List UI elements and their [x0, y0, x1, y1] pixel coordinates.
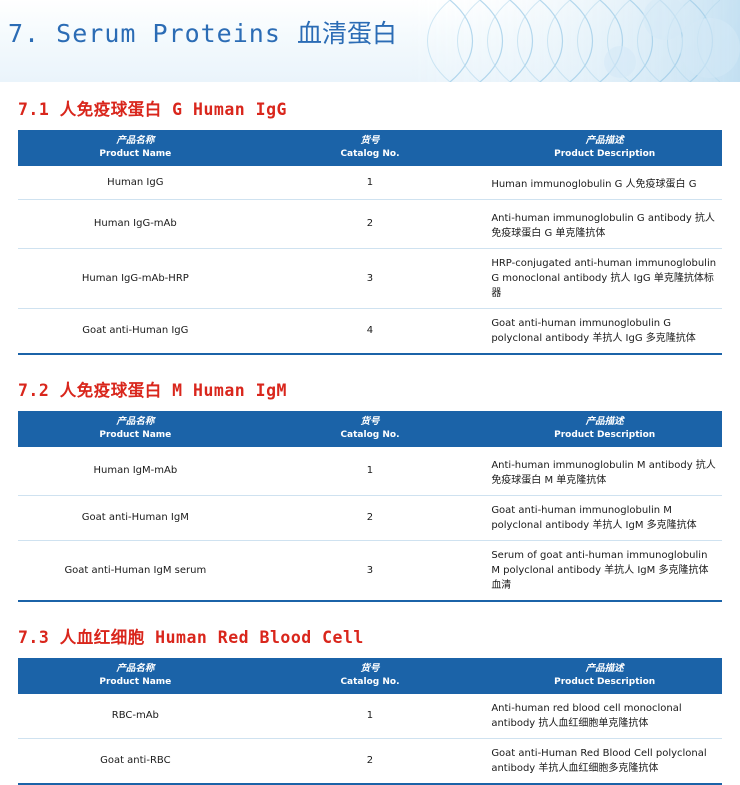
cell-product-description: Goat anti-human immunoglobulin G polyclo…: [487, 308, 722, 354]
cell-catalog-no: 1: [253, 166, 488, 200]
col-product-name-en: Product Name: [20, 148, 251, 160]
cell-product-name: Human IgG: [18, 166, 253, 200]
col-catalog-no-cn: 货号: [255, 416, 486, 429]
section-7-3-title: 7.3 人血红细胞 Human Red Blood Cell: [18, 624, 722, 648]
col-product-description: 产品描述 Product Description: [487, 411, 722, 447]
section-7-2-heading: 人免疫球蛋白 M Human IgM: [60, 381, 287, 400]
cell-product-name: Human IgM-mAb: [18, 447, 253, 496]
table-body-7-2: Human IgM-mAb 1 Anti-human immunoglobuli…: [18, 447, 722, 601]
cell-catalog-no: 4: [253, 308, 488, 354]
cell-product-description: Human immunoglobulin G 人免疫球蛋白 G: [487, 166, 722, 200]
cell-product-description: Anti-human red blood cell monoclonal ant…: [487, 694, 722, 739]
table-row: RBC-mAb 1 Anti-human red blood cell mono…: [18, 694, 722, 739]
table-row: Goat anti-Human IgM serum 3 Serum of goa…: [18, 540, 722, 601]
table-row: Human IgG 1 Human immunoglobulin G 人免疫球蛋…: [18, 166, 722, 200]
page-title-en: Serum Proteins: [56, 19, 281, 48]
page-title-cn: 血清蛋白: [297, 19, 397, 48]
cell-product-description: Anti-human immunoglobulin M antibody 抗人免…: [487, 447, 722, 496]
table-header-row: 产品名称 Product Name 货号 Catalog No. 产品描述 Pr…: [18, 411, 722, 447]
cell-catalog-no: 1: [253, 694, 488, 739]
col-product-description-cn: 产品描述: [489, 416, 720, 429]
page-title: 7. Serum Proteins 血清蛋白: [8, 14, 397, 50]
cell-product-name: Goat anti-RBC: [18, 738, 253, 784]
table-header-7-3: 产品名称 Product Name 货号 Catalog No. 产品描述 Pr…: [18, 658, 722, 694]
col-product-name: 产品名称 Product Name: [18, 658, 253, 694]
table-row: Goat anti-RBC 2 Goat anti-Human Red Bloo…: [18, 738, 722, 784]
section-7-1-title: 7.1 人免疫球蛋白 G Human IgG: [18, 96, 722, 120]
cell-catalog-no: 3: [253, 540, 488, 601]
col-catalog-no: 货号 Catalog No.: [253, 411, 488, 447]
col-catalog-no: 货号 Catalog No.: [253, 130, 488, 166]
col-product-description: 产品描述 Product Description: [487, 658, 722, 694]
cell-product-name: Human IgG-mAb-HRP: [18, 248, 253, 308]
table-header-row: 产品名称 Product Name 货号 Catalog No. 产品描述 Pr…: [18, 658, 722, 694]
product-table-7-3: 产品名称 Product Name 货号 Catalog No. 产品描述 Pr…: [18, 658, 722, 785]
col-catalog-no-cn: 货号: [255, 135, 486, 148]
cell-product-name: Human IgG-mAb: [18, 199, 253, 248]
section-7-3-number: 7.3: [18, 628, 49, 647]
col-product-name: 产品名称 Product Name: [18, 411, 253, 447]
col-catalog-no-cn: 货号: [255, 663, 486, 676]
dna-helix-decoration: [410, 0, 740, 82]
col-product-name-en: Product Name: [20, 429, 251, 441]
col-product-description-en: Product Description: [489, 148, 720, 160]
table-header-row: 产品名称 Product Name 货号 Catalog No. 产品描述 Pr…: [18, 130, 722, 166]
col-product-name-en: Product Name: [20, 676, 251, 688]
cell-catalog-no: 2: [253, 199, 488, 248]
table-row: Goat anti-Human IgM 2 Goat anti-human im…: [18, 495, 722, 540]
col-product-name-cn: 产品名称: [20, 135, 251, 148]
section-7-1-number: 7.1: [18, 100, 49, 119]
cell-product-description: HRP-conjugated anti-human immunoglobulin…: [487, 248, 722, 308]
cell-catalog-no: 1: [253, 447, 488, 496]
col-product-name-cn: 产品名称: [20, 416, 251, 429]
table-row: Human IgM-mAb 1 Anti-human immunoglobuli…: [18, 447, 722, 496]
col-product-description-cn: 产品描述: [489, 663, 720, 676]
col-product-description-en: Product Description: [489, 676, 720, 688]
cell-catalog-no: 2: [253, 495, 488, 540]
cell-product-description: Serum of goat anti-human immunoglobulin …: [487, 540, 722, 601]
section-7-2-title: 7.2 人免疫球蛋白 M Human IgM: [18, 377, 722, 401]
product-table-7-2: 产品名称 Product Name 货号 Catalog No. 产品描述 Pr…: [18, 411, 722, 602]
cell-product-name: Goat anti-Human IgM serum: [18, 540, 253, 601]
cell-product-name: Goat anti-Human IgG: [18, 308, 253, 354]
table-row: Human IgG-mAb-HRP 3 HRP-conjugated anti-…: [18, 248, 722, 308]
section-7-2-number: 7.2: [18, 381, 49, 400]
col-catalog-no: 货号 Catalog No.: [253, 658, 488, 694]
col-product-description-en: Product Description: [489, 429, 720, 441]
section-7-3-heading: 人血红细胞 Human Red Blood Cell: [60, 628, 364, 647]
cell-product-description: Goat anti-human immunoglobulin M polyclo…: [487, 495, 722, 540]
document-page: 7. Serum Proteins 血清蛋白 7.1 人免疫球蛋白 G Huma…: [0, 0, 740, 694]
col-catalog-no-en: Catalog No.: [255, 148, 486, 160]
col-catalog-no-en: Catalog No.: [255, 429, 486, 441]
table-body-7-1: Human IgG 1 Human immunoglobulin G 人免疫球蛋…: [18, 166, 722, 354]
col-product-name: 产品名称 Product Name: [18, 130, 253, 166]
cell-product-name: Goat anti-Human IgM: [18, 495, 253, 540]
cell-product-description: Goat anti-Human Red Blood Cell polyclona…: [487, 738, 722, 784]
section-7-2: 7.2 人免疫球蛋白 M Human IgM: [0, 377, 740, 401]
table-header-7-2: 产品名称 Product Name 货号 Catalog No. 产品描述 Pr…: [18, 411, 722, 447]
table-body-7-3: RBC-mAb 1 Anti-human red blood cell mono…: [18, 694, 722, 784]
page-title-number: 7.: [8, 19, 40, 48]
table-row: Human IgG-mAb 2 Anti-human immunoglobuli…: [18, 199, 722, 248]
page-banner: 7. Serum Proteins 血清蛋白: [0, 0, 740, 82]
section-7-1: 7.1 人免疫球蛋白 G Human IgG: [0, 96, 740, 120]
table-header-7-1: 产品名称 Product Name 货号 Catalog No. 产品描述 Pr…: [18, 130, 722, 166]
col-product-name-cn: 产品名称: [20, 663, 251, 676]
cell-catalog-no: 3: [253, 248, 488, 308]
table-row: Goat anti-Human IgG 4 Goat anti-human im…: [18, 308, 722, 354]
col-catalog-no-en: Catalog No.: [255, 676, 486, 688]
col-product-description-cn: 产品描述: [489, 135, 720, 148]
cell-product-name: RBC-mAb: [18, 694, 253, 739]
section-7-3: 7.3 人血红细胞 Human Red Blood Cell: [0, 624, 740, 648]
product-table-7-1: 产品名称 Product Name 货号 Catalog No. 产品描述 Pr…: [18, 130, 722, 355]
cell-catalog-no: 2: [253, 738, 488, 784]
cell-product-description: Anti-human immunoglobulin G antibody 抗人免…: [487, 199, 722, 248]
col-product-description: 产品描述 Product Description: [487, 130, 722, 166]
section-7-1-heading: 人免疫球蛋白 G Human IgG: [60, 100, 287, 119]
